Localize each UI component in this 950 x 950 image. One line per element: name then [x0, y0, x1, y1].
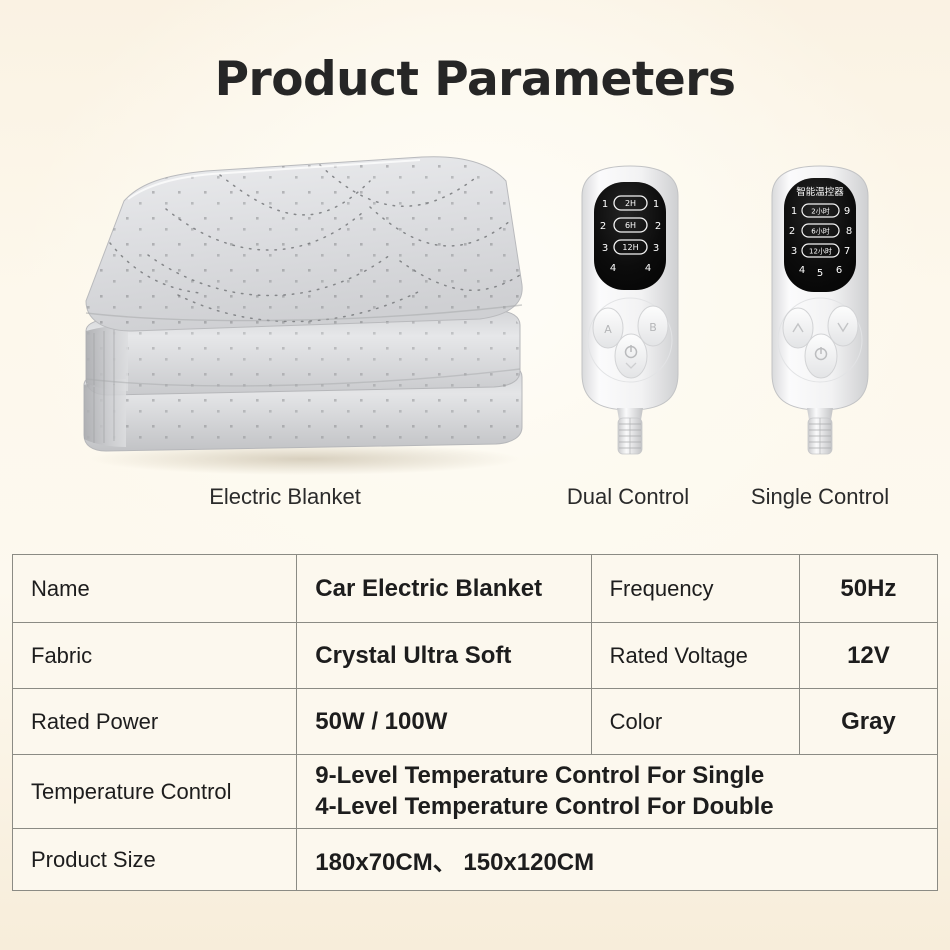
svg-text:1: 1	[653, 199, 659, 210]
product-parameters-page: Product Parameters	[0, 0, 950, 950]
svg-text:3: 3	[791, 246, 797, 257]
table-row: Rated Power 50W / 100W Color Gray	[13, 689, 938, 755]
spec-label-rated-power: Rated Power	[13, 689, 297, 755]
spec-label-color: Color	[591, 689, 799, 755]
caption-dual-control: Dual Control	[538, 484, 718, 510]
table-row: Name Car Electric Blanket Frequency 50Hz	[13, 555, 938, 623]
svg-text:4: 4	[610, 263, 616, 274]
spec-label-product-size: Product Size	[13, 829, 297, 891]
dual-control-remote-image: 2H 6H 12H 1 2 3 4 1 2 3 4 A	[560, 160, 700, 460]
svg-text:4: 4	[645, 263, 651, 274]
svg-text:1: 1	[602, 199, 608, 210]
svg-text:2H: 2H	[625, 199, 636, 208]
spec-label-name: Name	[13, 555, 297, 623]
spec-value-product-size: 180x70CM、 150x120CM	[297, 829, 938, 891]
spec-label-rated-voltage: Rated Voltage	[591, 623, 799, 689]
table-row: Product Size 180x70CM、 150x120CM	[13, 829, 938, 891]
page-title: Product Parameters	[0, 52, 950, 107]
temp-control-line-1: 9-Level Temperature Control For Single	[315, 761, 919, 792]
spec-value-temperature-control: 9-Level Temperature Control For Single 4…	[297, 755, 938, 829]
spec-value-name: Car Electric Blanket	[297, 555, 591, 623]
spec-value-frequency: 50Hz	[799, 555, 937, 623]
spec-value-rated-voltage: 12V	[799, 623, 937, 689]
svg-text:4: 4	[799, 265, 805, 276]
svg-text:6小时: 6小时	[811, 227, 829, 236]
spec-label-fabric: Fabric	[13, 623, 297, 689]
svg-text:5: 5	[817, 268, 823, 279]
caption-single-control: Single Control	[727, 484, 913, 510]
power-button-icon	[805, 334, 837, 378]
spec-table: Name Car Electric Blanket Frequency 50Hz…	[12, 554, 938, 891]
svg-text:3: 3	[602, 243, 608, 254]
spec-value-color: Gray	[799, 689, 937, 755]
spec-label-temperature-control: Temperature Control	[13, 755, 297, 829]
svg-text:12H: 12H	[622, 243, 638, 252]
svg-text:2小时: 2小时	[811, 207, 829, 216]
spec-label-frequency: Frequency	[591, 555, 799, 623]
svg-text:12小时: 12小时	[809, 247, 832, 256]
svg-text:6H: 6H	[625, 221, 636, 230]
screen-title: 智能温控器	[796, 186, 844, 198]
svg-text:7: 7	[844, 246, 850, 257]
svg-text:9: 9	[844, 206, 850, 217]
power-button-icon	[615, 334, 647, 378]
table-row: Fabric Crystal Ultra Soft Rated Voltage …	[13, 623, 938, 689]
electric-blanket-image	[70, 135, 540, 475]
svg-text:A: A	[604, 323, 612, 336]
temp-control-line-2: 4-Level Temperature Control For Double	[315, 792, 919, 823]
svg-text:8: 8	[846, 226, 852, 237]
caption-electric-blanket: Electric Blanket	[120, 484, 450, 510]
svg-text:2: 2	[789, 226, 795, 237]
svg-text:B: B	[649, 321, 657, 334]
svg-text:1: 1	[791, 206, 797, 217]
svg-text:2: 2	[600, 221, 606, 232]
single-control-remote-image: 智能温控器 2小时 6小时 12小时 1 2 3 9 8 7 4 5 6	[750, 160, 890, 460]
svg-text:2: 2	[655, 221, 661, 232]
spec-value-fabric: Crystal Ultra Soft	[297, 623, 591, 689]
table-row: Temperature Control 9-Level Temperature …	[13, 755, 938, 829]
svg-text:3: 3	[653, 243, 659, 254]
svg-text:6: 6	[836, 265, 842, 276]
spec-value-rated-power: 50W / 100W	[297, 689, 591, 755]
